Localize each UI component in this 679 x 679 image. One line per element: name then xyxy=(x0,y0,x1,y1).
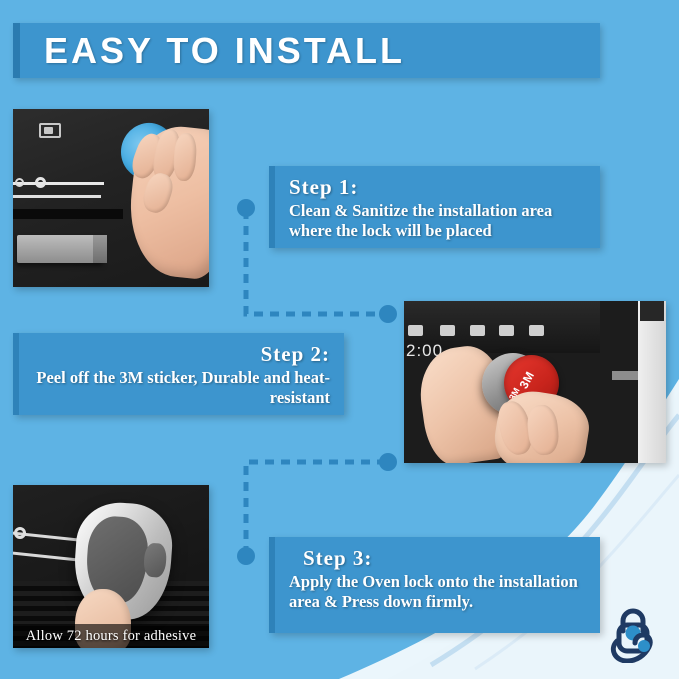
gear-icon xyxy=(14,527,26,539)
oven-button-icon xyxy=(470,325,485,336)
photo-3-caption: Allow 72 hours for adhesive xyxy=(13,624,209,648)
oven-handle xyxy=(17,235,103,263)
step-2-box: Step 2: Peel off the 3M sticker, Durable… xyxy=(13,333,344,415)
oven-shelf-shadow xyxy=(13,209,123,219)
step-1-box: Step 1: Clean & Sanitize the installatio… xyxy=(269,166,600,248)
gear-icon xyxy=(35,177,46,188)
oven-display-icon xyxy=(39,123,61,138)
step-1-body: Clean & Sanitize the installation area w… xyxy=(289,201,586,241)
oven-trim-bar xyxy=(13,195,101,198)
step-3-body: Apply the Oven lock onto the installatio… xyxy=(289,572,586,612)
oven-knob-icon xyxy=(15,178,24,187)
oven-trim-bar xyxy=(13,182,104,185)
oven-button-icon xyxy=(529,325,544,336)
step-3-box: Step 3: Apply the Oven lock onto the ins… xyxy=(269,537,600,633)
poster-canvas: EASY TO INSTALL Step 1: Clean & Sanitize… xyxy=(0,0,679,679)
step-3-title: Step 3: xyxy=(289,546,586,571)
lock-side-button xyxy=(143,543,167,578)
step-1-title: Step 1: xyxy=(289,175,586,200)
oven-button-icon xyxy=(408,325,423,336)
fridge-edge xyxy=(638,301,666,463)
page-title-banner: EASY TO INSTALL xyxy=(13,23,600,78)
step-2-body: Peel off the 3M sticker, Durable and hea… xyxy=(33,368,330,408)
page-title: EASY TO INSTALL xyxy=(20,30,405,72)
oven-button-icon xyxy=(440,325,455,336)
3m-logo-text: 3M xyxy=(517,369,538,391)
photo-step-3: Allow 72 hours for adhesive xyxy=(13,485,209,648)
oven-button-icon xyxy=(499,325,514,336)
fridge-top-edge xyxy=(640,301,664,321)
oven-trim-strip xyxy=(612,371,638,380)
photo-step-1 xyxy=(13,109,209,287)
photo-step-2: 2:00 3M 3M xyxy=(404,301,666,463)
heart-padlock-logo xyxy=(605,605,661,663)
step-2-title: Step 2: xyxy=(33,342,330,367)
oven-handle-end xyxy=(93,235,107,263)
